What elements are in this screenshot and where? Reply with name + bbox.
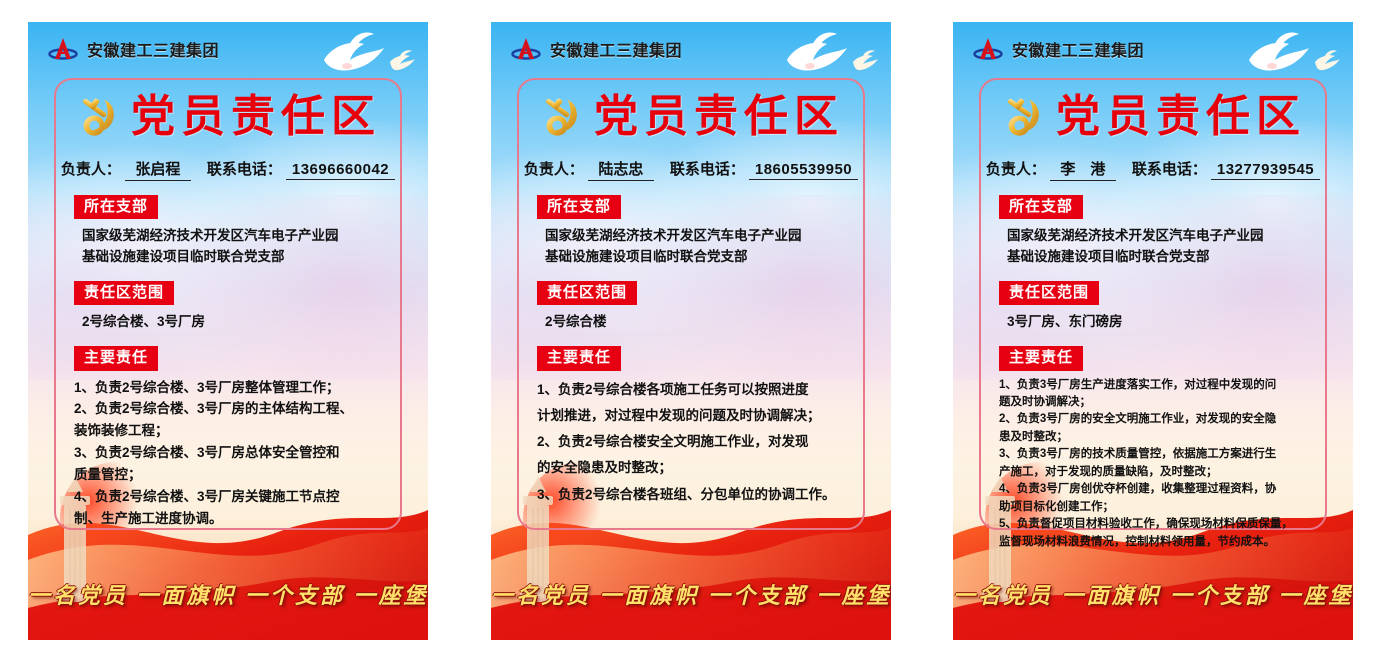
person-label: 负责人：: [61, 158, 121, 179]
duty-line: 装饰装修工程；: [74, 420, 400, 442]
slogan-banner: 一名党员 一面旗帜 一个支部 一座堡垒: [28, 578, 428, 610]
branch-line: 国家级芜湖经济技术开发区汽车电子产业园: [545, 226, 863, 246]
person-name-value: 李 港: [1050, 158, 1116, 181]
slogan-banner: 一名党员 一面旗帜 一个支部 一座堡垒: [491, 578, 891, 610]
branch-body: 国家级芜湖经济技术开发区汽车电子产业园 基础设施建设项目临时联合党支部: [82, 226, 400, 267]
duty-line: 助项目标化创建工作；: [999, 499, 1325, 516]
title-row: 党员责任区: [519, 94, 863, 140]
branch-tag: 所在支部: [999, 195, 1083, 219]
duty-line: 监督现场材料浪费情况，控制材料领用量，节约成本。: [999, 534, 1325, 551]
duty-list: 1、负责2号综合楼各项施工任务可以按照进度计划推进，对过程中发现的问题及时协调解…: [537, 377, 863, 509]
duty-line: 3、负责3号厂房的技术质量管控，依据施工方案进行生: [999, 446, 1325, 463]
poster-1: 安徽建工三建集团: [28, 22, 428, 640]
dove-icon: [306, 30, 416, 82]
dove-icon: [769, 30, 879, 82]
scope-tag: 责任区范围: [537, 281, 637, 305]
slogan-banner: 一名党员 一面旗帜 一个支部 一座堡垒: [953, 578, 1353, 610]
scope-value: 3号厂房、东门磅房: [1007, 312, 1325, 332]
duty-line: 5、负责督促项目材料验收工作，确保现场材料保质保量，: [999, 516, 1325, 533]
duty-line: 2、负责3号厂房的安全文明施工作业，对发现的安全隐: [999, 411, 1325, 428]
person-row: 负责人： 陆志忠 联系电话： 18605539950: [519, 158, 863, 181]
branch-body: 国家级芜湖经济技术开发区汽车电子产业园 基础设施建设项目临时联合党支部: [1007, 226, 1325, 267]
duty-tag: 主要责任: [74, 346, 158, 370]
duty-list: 1、负责3号厂房生产进度落实工作，对过程中发现的问题及时协调解决；2、负责3号厂…: [999, 377, 1325, 552]
branch-line: 基础设施建设项目临时联合党支部: [82, 247, 400, 267]
poster-2: 安徽建工三建集团 党员责任区: [491, 22, 891, 640]
duty-section: 主要责任 1、负责2号综合楼、3号厂房整体管理工作；2、负责2号综合楼、3号厂房…: [74, 332, 400, 529]
branch-line: 基础设施建设项目临时联合党支部: [1007, 247, 1325, 267]
scope-tag: 责任区范围: [74, 281, 174, 305]
branch-line: 基础设施建设项目临时联合党支部: [545, 247, 863, 267]
duty-line: 2、负责2号综合楼、3号厂房的主体结构工程、: [74, 398, 400, 420]
scope-section: 责任区范围 2号综合楼: [537, 267, 863, 333]
duty-line: 3、负责2号综合楼各班组、分包单位的协调工作。: [537, 482, 863, 508]
dove-icon: [1231, 30, 1341, 82]
brand-name: 安徽建工三建集团: [87, 37, 219, 61]
duty-line: 1、负责3号厂房生产进度落实工作，对过程中发现的问: [999, 377, 1325, 394]
branch-section: 所在支部 国家级芜湖经济技术开发区汽车电子产业园 基础设施建设项目临时联合党支部: [999, 181, 1325, 267]
scope-tag: 责任区范围: [999, 281, 1099, 305]
duty-line: 题及时协调解决；: [999, 394, 1325, 411]
scope-body: 3号厂房、东门磅房: [1007, 312, 1325, 332]
brand-header: 安徽建工三建集团: [48, 36, 219, 62]
duty-list: 1、负责2号综合楼、3号厂房整体管理工作；2、负责2号综合楼、3号厂房的主体结构…: [74, 377, 400, 530]
branch-body: 国家级芜湖经济技术开发区汽车电子产业园 基础设施建设项目临时联合党支部: [545, 226, 863, 267]
party-emblem-icon: [538, 94, 584, 140]
duty-line: 1、负责2号综合楼、3号厂房整体管理工作；: [74, 377, 400, 399]
brand-header: 安徽建工三建集团: [973, 36, 1144, 62]
duty-line: 的安全隐患及时整改；: [537, 455, 863, 481]
scope-section: 责任区范围 3号厂房、东门磅房: [999, 267, 1325, 333]
duty-line: 产施工，对于发现的质量缺陷，及时整改；: [999, 464, 1325, 481]
duty-line: 2、负责2号综合楼安全文明施工作业，对发现: [537, 429, 863, 455]
branch-section: 所在支部 国家级芜湖经济技术开发区汽车电子产业园 基础设施建设项目临时联合党支部: [537, 181, 863, 267]
phone-value: 13696660042: [286, 161, 395, 180]
scope-value: 2号综合楼、3号厂房: [82, 312, 400, 332]
phone-label: 联系电话：: [207, 158, 282, 179]
duty-line: 患及时整改；: [999, 429, 1325, 446]
anhui-construction-logo-icon: [973, 36, 1003, 62]
anhui-construction-logo-icon: [48, 36, 78, 62]
scope-body: 2号综合楼、3号厂房: [82, 312, 400, 332]
person-row: 负责人： 李 港 联系电话： 13277939545: [981, 158, 1325, 181]
branch-section: 所在支部 国家级芜湖经济技术开发区汽车电子产业园 基础设施建设项目临时联合党支部: [74, 181, 400, 267]
anhui-construction-logo-icon: [511, 36, 541, 62]
branch-line: 国家级芜湖经济技术开发区汽车电子产业园: [82, 226, 400, 246]
title-row: 党员责任区: [56, 94, 400, 140]
person-label: 负责人：: [986, 158, 1046, 179]
scope-value: 2号综合楼: [545, 312, 863, 332]
brand-header: 安徽建工三建集团: [511, 36, 682, 62]
person-name-value: 张启程: [125, 158, 191, 181]
poster-card: 党员责任区 负责人： 张启程 联系电话： 13696660042 所在支部 国家…: [54, 78, 402, 530]
duty-tag: 主要责任: [537, 346, 621, 370]
duty-line: 1、负责2号综合楼各项施工任务可以按照进度: [537, 377, 863, 403]
duty-line: 制、生产施工进度协调。: [74, 508, 400, 530]
scope-body: 2号综合楼: [545, 312, 863, 332]
party-emblem-icon: [75, 94, 121, 140]
poster-gallery: 安徽建工三建集团: [0, 0, 1385, 663]
poster-card: 党员责任区 负责人： 李 港 联系电话： 13277939545 所在支部 国家…: [979, 78, 1327, 530]
page-title: 党员责任区: [1056, 95, 1306, 139]
branch-tag: 所在支部: [537, 195, 621, 219]
brand-name: 安徽建工三建集团: [1012, 37, 1144, 61]
duty-section: 主要责任 1、负责2号综合楼各项施工任务可以按照进度计划推进，对过程中发现的问题…: [537, 332, 863, 508]
duty-line: 4、负责3号厂房创优夺杯创建，收集整理过程资料，协: [999, 481, 1325, 498]
title-row: 党员责任区: [981, 94, 1325, 140]
brand-name: 安徽建工三建集团: [550, 37, 682, 61]
branch-tag: 所在支部: [74, 195, 158, 219]
duty-section: 主要责任 1、负责3号厂房生产进度落实工作，对过程中发现的问题及时协调解决；2、…: [999, 332, 1325, 551]
poster-card: 党员责任区 负责人： 陆志忠 联系电话： 18605539950 所在支部 国家…: [517, 78, 865, 530]
page-title: 党员责任区: [594, 95, 844, 139]
scope-section: 责任区范围 2号综合楼、3号厂房: [74, 267, 400, 333]
party-emblem-icon: [1000, 94, 1046, 140]
person-label: 负责人：: [524, 158, 584, 179]
phone-label: 联系电话：: [670, 158, 745, 179]
duty-line: 质量管控；: [74, 464, 400, 486]
phone-value: 13277939545: [1211, 161, 1320, 180]
phone-value: 18605539950: [749, 161, 858, 180]
duty-line: 3、负责2号综合楼、3号厂房总体安全管控和: [74, 442, 400, 464]
duty-line: 4、负责2号综合楼、3号厂房关键施工节点控: [74, 486, 400, 508]
person-row: 负责人： 张启程 联系电话： 13696660042: [56, 158, 400, 181]
poster-3: 安徽建工三建集团 党员责任区: [953, 22, 1353, 640]
page-title: 党员责任区: [131, 95, 381, 139]
branch-line: 国家级芜湖经济技术开发区汽车电子产业园: [1007, 226, 1325, 246]
duty-line: 计划推进，对过程中发现的问题及时协调解决；: [537, 403, 863, 429]
phone-label: 联系电话：: [1132, 158, 1207, 179]
person-name-value: 陆志忠: [588, 158, 654, 181]
duty-tag: 主要责任: [999, 346, 1083, 370]
